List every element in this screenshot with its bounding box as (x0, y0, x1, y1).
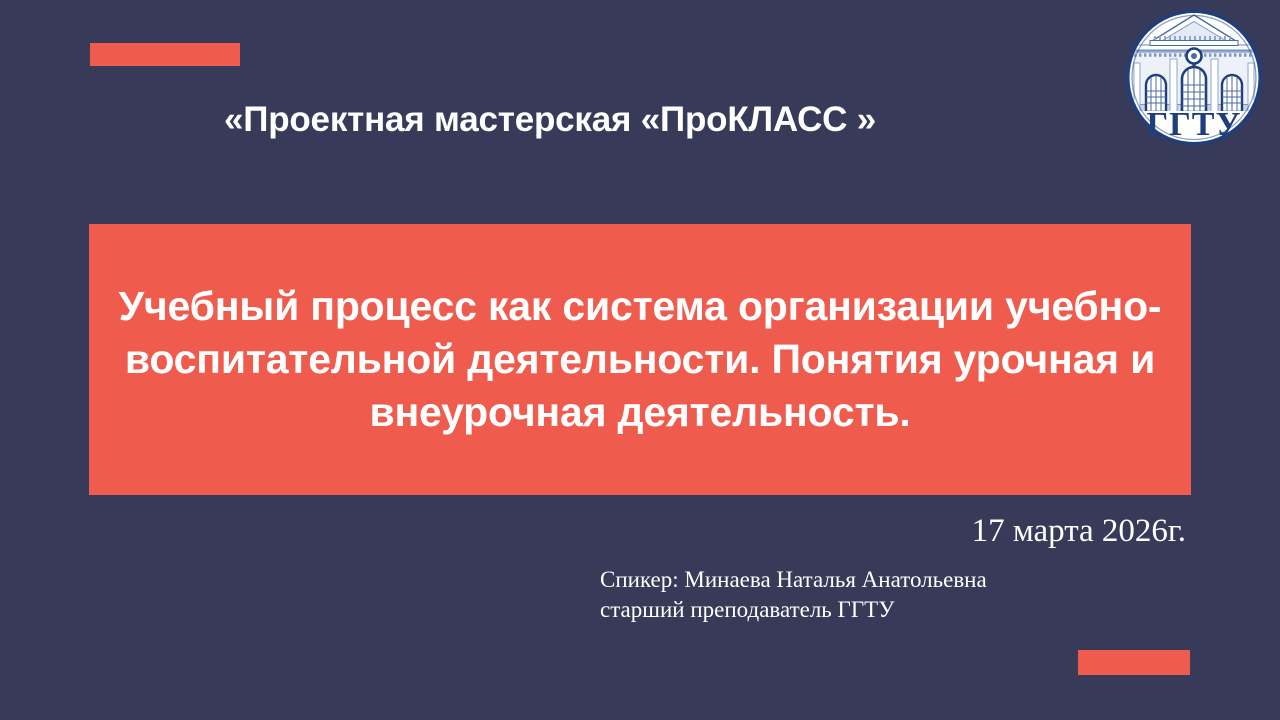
presentation-slide: «Проектная мастерская «ПроКЛАСС » (0, 0, 1280, 720)
event-date: 17 марта 2026г. (600, 512, 1186, 550)
speaker-name: Спикер: Минаева Наталья Анатольевна (600, 565, 1200, 595)
svg-text:ГГТУ: ГГТУ (1147, 106, 1242, 143)
event-title: «Проектная мастерская «ПроКЛАСС » (0, 100, 1100, 140)
speaker-position: старший преподаватель ГГТУ (600, 595, 1200, 625)
main-title: Учебный процесс как система организации … (89, 280, 1191, 439)
accent-bar-top-left (90, 43, 240, 66)
accent-bar-bottom-right (1078, 650, 1190, 675)
ggtu-logo: ГГТУ (1124, 7, 1264, 148)
main-title-block: Учебный процесс как система организации … (89, 224, 1191, 495)
speaker-block: Спикер: Минаева Наталья Анатольевна стар… (600, 565, 1200, 625)
